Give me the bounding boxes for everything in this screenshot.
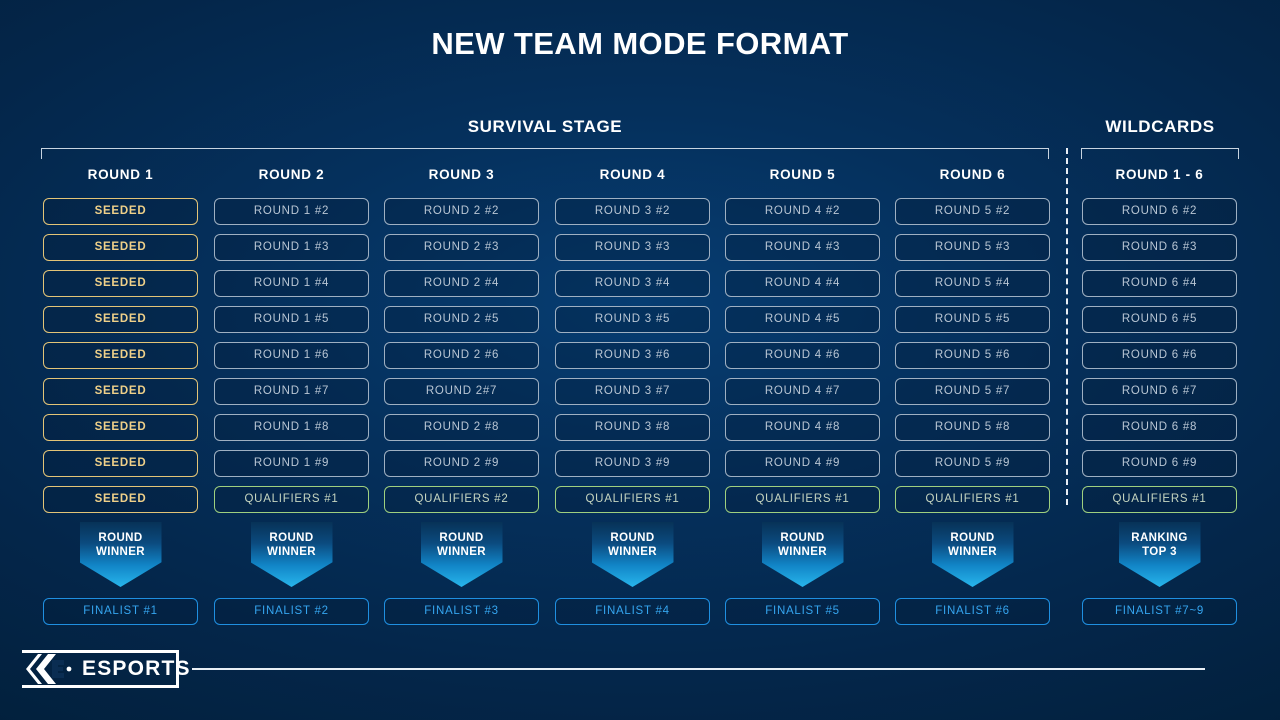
column-header: ROUND 2 <box>214 164 369 188</box>
column-header: ROUND 5 <box>725 164 880 188</box>
winner-banner-slot: ROUNDWINNER <box>384 522 539 598</box>
winner-banner-slot: ROUNDWINNER <box>555 522 710 598</box>
bracket-slot[interactable]: ROUND 1 #8 <box>214 414 369 441</box>
bracket-slot[interactable]: ROUND 2 #8 <box>384 414 539 441</box>
column-header: ROUND 3 <box>384 164 539 188</box>
bracket-slot[interactable]: ROUND 5 #6 <box>895 342 1050 369</box>
column-header: ROUND 1 <box>43 164 198 188</box>
bracket-column-wildcards: ROUND 1 - 6ROUND 6 #2ROUND 6 #3ROUND 6 #… <box>1082 164 1237 634</box>
column-header: ROUND 4 <box>555 164 710 188</box>
finalist-slot[interactable]: FINALIST #4 <box>555 598 710 625</box>
finalist-slot[interactable]: FINALIST #6 <box>895 598 1050 625</box>
bracket-column-round-3: ROUND 3ROUND 2 #2ROUND 2 #3ROUND 2 #4ROU… <box>384 164 539 634</box>
round-winner-banner: ROUNDWINNER <box>932 522 1014 587</box>
bracket-grid: ROUND 1SEEDEDSEEDEDSEEDEDSEEDEDSEEDEDSEE… <box>0 0 1280 720</box>
bracket-slot[interactable]: ROUND 1 #9 <box>214 450 369 477</box>
bracket-slot[interactable]: ROUND 5 #4 <box>895 270 1050 297</box>
banner-line: ROUND <box>932 531 1014 545</box>
bracket-slot[interactable]: ROUND 4 #2 <box>725 198 880 225</box>
bracket-slot[interactable]: ROUND 2 #6 <box>384 342 539 369</box>
round-winner-banner: ROUNDWINNER <box>421 522 503 587</box>
bracket-slot[interactable]: ROUND 2 #2 <box>384 198 539 225</box>
bracket-column-round-1: ROUND 1SEEDEDSEEDEDSEEDEDSEEDEDSEEDEDSEE… <box>43 164 198 634</box>
bracket-slot[interactable]: ROUND 1 #4 <box>214 270 369 297</box>
banner-line: ROUND <box>592 531 674 545</box>
finalist-slot[interactable]: FINALIST #1 <box>43 598 198 625</box>
banner-line: WINNER <box>932 545 1014 559</box>
ranking-banner: RANKINGTOP 3 <box>1119 522 1201 587</box>
bracket-slot[interactable]: ROUND 4 #3 <box>725 234 880 261</box>
bracket-slot[interactable]: ROUND 6 #4 <box>1082 270 1237 297</box>
bracket-slot[interactable]: ROUND 2 #4 <box>384 270 539 297</box>
bracket-slot[interactable]: ROUND 6 #5 <box>1082 306 1237 333</box>
bracket-slot[interactable]: QUALIFIERS #1 <box>214 486 369 513</box>
winner-banner-slot: ROUNDWINNER <box>214 522 369 598</box>
bracket-slot[interactable]: ROUND 6 #7 <box>1082 378 1237 405</box>
esports-emblem-icon <box>22 650 80 688</box>
bracket-slot[interactable]: ROUND 3 #5 <box>555 306 710 333</box>
banner-line: ROUND <box>762 531 844 545</box>
bracket-slot[interactable]: SEEDED <box>43 270 198 297</box>
bracket-slot[interactable]: ROUND 3 #4 <box>555 270 710 297</box>
bracket-slot[interactable]: SEEDED <box>43 486 198 513</box>
bracket-slot[interactable]: ROUND 6 #2 <box>1082 198 1237 225</box>
banner-line: ROUND <box>421 531 503 545</box>
bracket-slot[interactable]: QUALIFIERS #1 <box>1082 486 1237 513</box>
finalist-slot[interactable]: FINALIST #3 <box>384 598 539 625</box>
bracket-slot[interactable]: ROUND 4 #6 <box>725 342 880 369</box>
bracket-slot[interactable]: ROUND 5 #9 <box>895 450 1050 477</box>
bracket-column-round-6: ROUND 6ROUND 5 #2ROUND 5 #3ROUND 5 #4ROU… <box>895 164 1050 634</box>
finalist-slot[interactable]: FINALIST #2 <box>214 598 369 625</box>
bracket-slot[interactable]: ROUND 5 #3 <box>895 234 1050 261</box>
slide-canvas: NEW TEAM MODE FORMAT SURVIVAL STAGE WILD… <box>0 0 1280 720</box>
banner-line: ROUND <box>80 531 162 545</box>
bracket-slot[interactable]: QUALIFIERS #1 <box>895 486 1050 513</box>
round-winner-banner: ROUNDWINNER <box>251 522 333 587</box>
bracket-slot[interactable]: ROUND 3 #6 <box>555 342 710 369</box>
bracket-slot[interactable]: ROUND 1 #7 <box>214 378 369 405</box>
bracket-slot[interactable]: QUALIFIERS #1 <box>555 486 710 513</box>
bracket-slot[interactable]: ROUND 4 #9 <box>725 450 880 477</box>
bracket-slot[interactable]: QUALIFIERS #2 <box>384 486 539 513</box>
bracket-column-round-2: ROUND 2ROUND 1 #2ROUND 1 #3ROUND 1 #4ROU… <box>214 164 369 634</box>
esports-logo: ESPORTS <box>22 650 179 688</box>
round-winner-banner: ROUNDWINNER <box>762 522 844 587</box>
bracket-slot[interactable]: ROUND 6 #6 <box>1082 342 1237 369</box>
column-header: ROUND 6 <box>895 164 1050 188</box>
bracket-slot[interactable]: ROUND 4 #7 <box>725 378 880 405</box>
bracket-slot[interactable]: QUALIFIERS #1 <box>725 486 880 513</box>
bracket-slot[interactable]: ROUND 1 #2 <box>214 198 369 225</box>
banner-line: ROUND <box>251 531 333 545</box>
bracket-slot[interactable]: ROUND 5 #2 <box>895 198 1050 225</box>
banner-line: WINNER <box>251 545 333 559</box>
bracket-slot[interactable]: ROUND 1 #5 <box>214 306 369 333</box>
bracket-slot[interactable]: ROUND 3 #9 <box>555 450 710 477</box>
bracket-slot[interactable]: ROUND 3 #7 <box>555 378 710 405</box>
bracket-slot[interactable]: ROUND 3 #3 <box>555 234 710 261</box>
bracket-slot[interactable]: ROUND 2 #9 <box>384 450 539 477</box>
banner-line: WINNER <box>762 545 844 559</box>
bracket-slot[interactable]: ROUND 5 #8 <box>895 414 1050 441</box>
bracket-slot[interactable]: ROUND 4 #8 <box>725 414 880 441</box>
winner-banner-slot: RANKINGTOP 3 <box>1082 522 1237 598</box>
bracket-slot[interactable]: SEEDED <box>43 378 198 405</box>
bracket-slot[interactable]: ROUND 5 #5 <box>895 306 1050 333</box>
bracket-slot[interactable]: SEEDED <box>43 306 198 333</box>
esports-logo-text: ESPORTS <box>82 657 191 681</box>
bracket-slot[interactable]: ROUND 6 #9 <box>1082 450 1237 477</box>
bracket-slot[interactable]: ROUND 1 #6 <box>214 342 369 369</box>
bracket-slot[interactable]: ROUND 6 #8 <box>1082 414 1237 441</box>
banner-line: RANKING <box>1119 531 1201 545</box>
finalist-slot[interactable]: FINALIST #7~9 <box>1082 598 1237 625</box>
bracket-slot[interactable]: SEEDED <box>43 450 198 477</box>
finalist-slot[interactable]: FINALIST #5 <box>725 598 880 625</box>
banner-line: WINNER <box>592 545 674 559</box>
footer-divider <box>192 668 1205 670</box>
column-header: ROUND 1 - 6 <box>1082 164 1237 188</box>
bracket-slot[interactable]: SEEDED <box>43 414 198 441</box>
banner-line: TOP 3 <box>1119 545 1201 559</box>
bracket-slot[interactable]: ROUND 2 #5 <box>384 306 539 333</box>
banner-line: WINNER <box>421 545 503 559</box>
bracket-column-round-4: ROUND 4ROUND 3 #2ROUND 3 #3ROUND 3 #4ROU… <box>555 164 710 634</box>
bracket-slot[interactable]: SEEDED <box>43 342 198 369</box>
bracket-slot[interactable]: ROUND 1 #3 <box>214 234 369 261</box>
bracket-column-round-5: ROUND 5ROUND 4 #2ROUND 4 #3ROUND 4 #4ROU… <box>725 164 880 634</box>
bracket-slot[interactable]: SEEDED <box>43 234 198 261</box>
bracket-slot[interactable]: ROUND 3 #8 <box>555 414 710 441</box>
winner-banner-slot: ROUNDWINNER <box>895 522 1050 598</box>
bracket-slot[interactable]: ROUND 5 #7 <box>895 378 1050 405</box>
bracket-slot[interactable]: ROUND 3 #2 <box>555 198 710 225</box>
banner-line: WINNER <box>80 545 162 559</box>
winner-banner-slot: ROUNDWINNER <box>725 522 880 598</box>
bracket-slot[interactable]: ROUND 2#7 <box>384 378 539 405</box>
bracket-slot[interactable]: ROUND 2 #3 <box>384 234 539 261</box>
winner-banner-slot: ROUNDWINNER <box>43 522 198 598</box>
bracket-slot[interactable]: ROUND 6 #3 <box>1082 234 1237 261</box>
round-winner-banner: ROUNDWINNER <box>592 522 674 587</box>
bracket-slot[interactable]: ROUND 4 #5 <box>725 306 880 333</box>
round-winner-banner: ROUNDWINNER <box>80 522 162 587</box>
bracket-slot[interactable]: ROUND 4 #4 <box>725 270 880 297</box>
bracket-slot[interactable]: SEEDED <box>43 198 198 225</box>
